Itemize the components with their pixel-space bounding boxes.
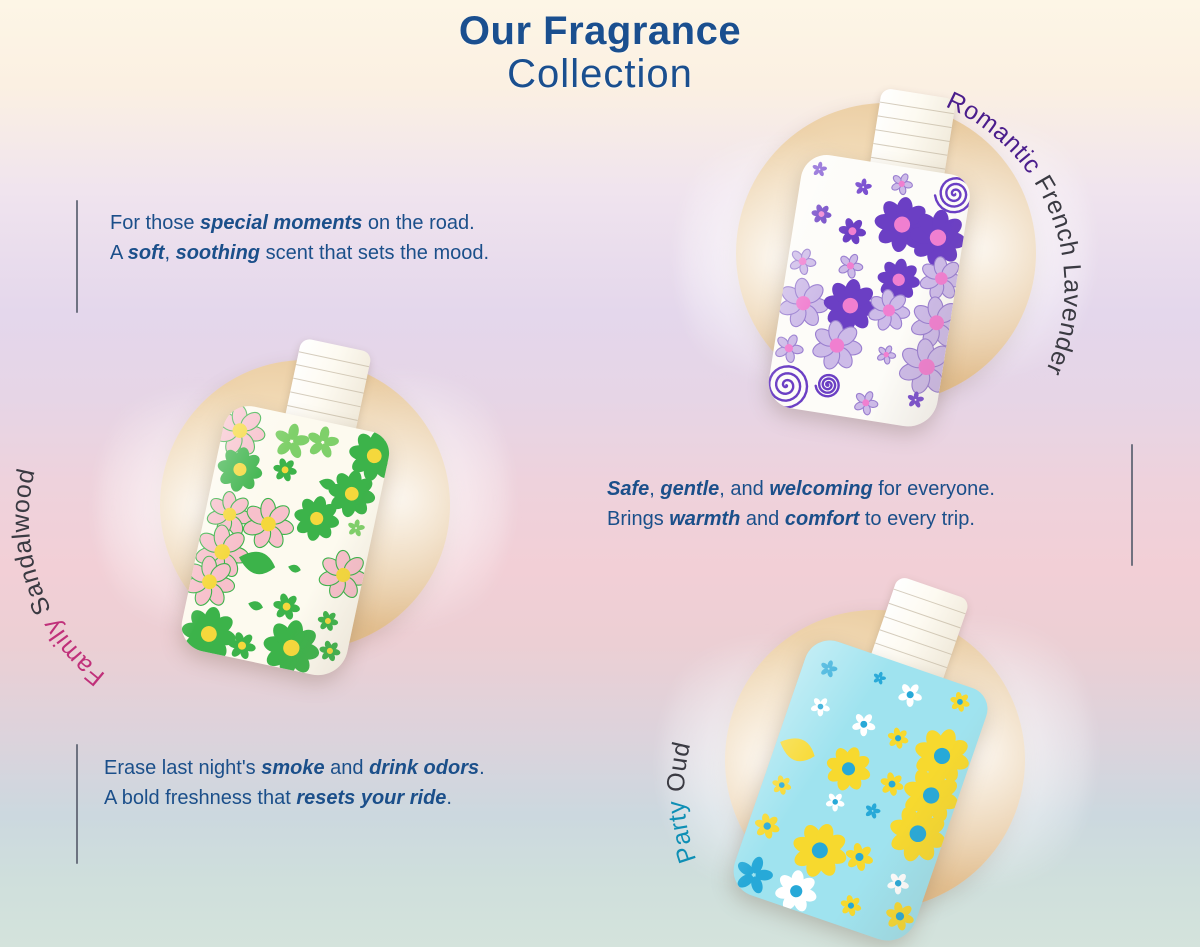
title-line-1: Our Fragrance <box>459 9 741 53</box>
product-lavender-label-text: Romantic French Lavender <box>942 86 1086 380</box>
text-block-1-line-2: A soft, soothing scent that sets the moo… <box>110 238 489 268</box>
b2l2-c: to every trip. <box>859 508 975 530</box>
b2l1-b: , <box>649 478 660 500</box>
text-block-3-rule <box>76 744 78 864</box>
b1l2-em1: soft <box>128 242 165 264</box>
product-lavender-label: Romantic French Lavender <box>690 75 1090 475</box>
b3l2-b: . <box>446 787 452 809</box>
product-lavender[interactable]: Romantic French Lavender <box>700 85 1060 445</box>
text-block-3-line-1: Erase last night's smoke and drink odors… <box>104 753 485 783</box>
product-oud-label: Party Oud <box>605 545 1025 947</box>
b2l1-em3: welcoming <box>769 478 872 500</box>
b3l2-a: A bold freshness that <box>104 787 296 809</box>
b2l2-em2: comfort <box>785 508 859 530</box>
b2l1-em1: Safe <box>607 478 649 500</box>
b2l1-d: for everyone. <box>873 478 995 500</box>
b1l1-em1: special moments <box>200 212 362 234</box>
b1l2-b: , <box>164 242 175 264</box>
b1l2-c: scent that sets the mood. <box>260 242 489 264</box>
b2l2-b: and <box>740 508 784 530</box>
b3l1-a: Erase last night's <box>104 757 261 779</box>
b2l2-a: Brings <box>607 508 669 530</box>
b2l2-em1: warmth <box>669 508 740 530</box>
text-block-3-line-2: A bold freshness that resets your ride. <box>104 783 485 813</box>
b1l1-b: on the road. <box>362 212 474 234</box>
text-block-2-line-2: Brings warmth and comfort to every trip. <box>607 504 995 534</box>
text-block-2-line-1: Safe, gentle, and welcoming for everyone… <box>607 474 995 504</box>
product-oud[interactable]: Party Oud <box>690 565 1070 947</box>
b1l2-em2: soothing <box>176 242 260 264</box>
text-block-2: Safe, gentle, and welcoming for everyone… <box>607 474 995 535</box>
poster-canvas: Our Fragrance Collection For those speci… <box>0 0 1200 947</box>
b1l1-a: For those <box>110 212 200 234</box>
b3l1-em2: drink odors <box>369 757 479 779</box>
b2l1-em2: gentle <box>660 478 719 500</box>
text-block-1-line-1: For those special moments on the road. <box>110 208 489 238</box>
product-sandalwood-label-text: Family Sandalwood <box>7 466 110 692</box>
product-oud-label-text: Party Oud <box>662 739 702 867</box>
b1l2-a: A <box>110 242 128 264</box>
b3l1-b: and <box>325 757 369 779</box>
b3l1-em1: smoke <box>261 757 324 779</box>
text-block-2-rule <box>1131 444 1133 566</box>
text-block-3: Erase last night's smoke and drink odors… <box>104 753 485 814</box>
product-sandalwood-label: Family Sandalwood <box>10 290 430 730</box>
b3l2-em1: resets your ride <box>296 787 446 809</box>
text-block-1: For those special moments on the road. A… <box>110 208 489 269</box>
product-sandalwood[interactable]: Family Sandalwood <box>115 330 485 700</box>
b2l1-c: , and <box>719 478 769 500</box>
b3l1-c: . <box>479 757 485 779</box>
